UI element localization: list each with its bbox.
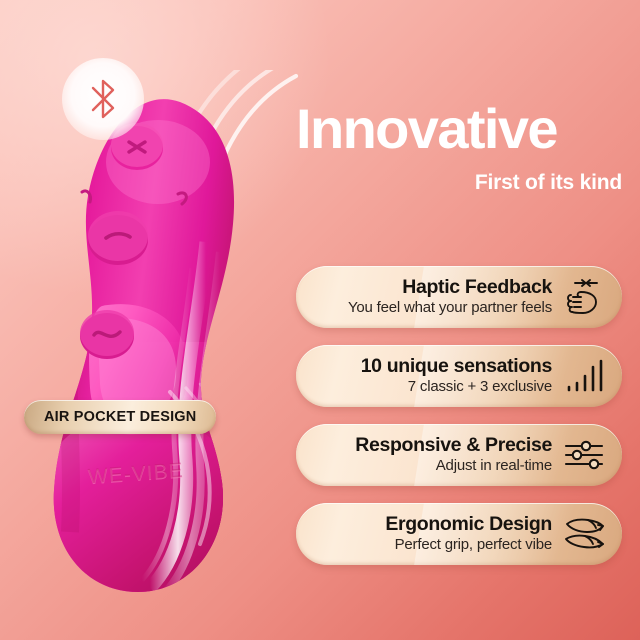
feature-card-unique-sensations: 10 unique sensations 7 classic + 3 exclu… bbox=[296, 345, 622, 407]
feature-subtitle: Adjust in real-time bbox=[312, 457, 552, 475]
sliders-icon bbox=[562, 433, 608, 477]
air-pocket-badge: AIR POCKET DESIGN bbox=[24, 400, 216, 434]
product-marketing-image: WE-VIBE Innovative First of its kind AIR… bbox=[0, 0, 640, 640]
feature-title: Haptic Feedback bbox=[312, 277, 552, 299]
feature-title: Ergonomic Design bbox=[312, 514, 552, 536]
bluetooth-icon bbox=[86, 76, 120, 122]
fist-with-arrows-icon bbox=[562, 275, 608, 319]
feature-title: 10 unique sensations bbox=[312, 356, 552, 378]
headline-block: Innovative First of its kind bbox=[296, 100, 622, 195]
page-subtitle: First of its kind bbox=[296, 171, 622, 195]
product-device-illustration bbox=[30, 92, 300, 602]
air-pocket-badge-label: AIR POCKET DESIGN bbox=[44, 409, 196, 425]
page-title: Innovative bbox=[296, 100, 622, 157]
feature-card-list: Haptic Feedback You feel what your partn… bbox=[296, 266, 622, 582]
feature-card-haptic-feedback: Haptic Feedback You feel what your partn… bbox=[296, 266, 622, 328]
feature-card-responsive-precise: Responsive & Precise Adjust in real-time bbox=[296, 424, 622, 486]
feature-subtitle: 7 classic + 3 exclusive bbox=[312, 378, 552, 396]
signal-bars-icon bbox=[562, 354, 608, 398]
feature-title: Responsive & Precise bbox=[312, 435, 552, 457]
feature-subtitle: Perfect grip, perfect vibe bbox=[312, 536, 552, 554]
cupped-hands-icon bbox=[562, 512, 608, 556]
feature-subtitle: You feel what your partner feels bbox=[312, 299, 552, 317]
bluetooth-badge bbox=[62, 58, 144, 140]
feature-card-ergonomic-design: Ergonomic Design Perfect grip, perfect v… bbox=[296, 503, 622, 565]
